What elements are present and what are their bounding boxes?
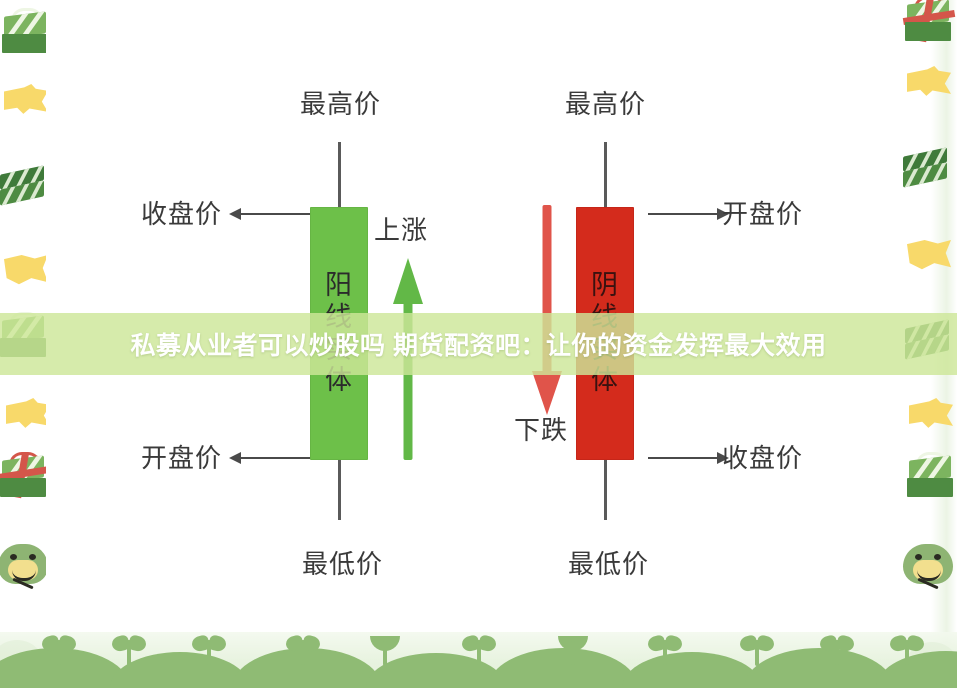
bearish-lower-wick [604,460,607,520]
uptrend-label: 上涨 [374,210,428,247]
sprout-icon [648,632,682,666]
page-title: 私募从业者可以炒股吗 期货配资吧：让你的资金发挥最大效用 [131,326,827,362]
downtrend-label: 下跌 [514,410,568,447]
bullish-close-label: 收盘价 [141,194,222,231]
bearish-open-label: 开盘价 [722,194,803,231]
downtrend-arrow-icon [532,205,562,415]
bullish-low-label: 最低价 [302,544,383,581]
bearish-high-label: 最高价 [565,84,646,121]
sprout-icon [42,632,76,666]
sprout-cup-icon [368,632,402,666]
bearish-close-arrow [648,457,718,459]
sprout-icon [890,632,924,666]
sprout-icon [820,632,854,666]
bullish-close-arrow [240,213,310,215]
bearish-open-arrow [648,213,718,215]
page-root: 最高价 阳 线 实 体 收盘价 开盘价 最低价 上涨 最高价 阴 线 [0,0,957,688]
bottom-grass-border [0,614,957,688]
bearish-body-char-1: 阴 [591,270,619,302]
bearish-upper-wick [604,142,607,208]
bearish-close-label: 收盘价 [722,438,803,475]
sprout-icon [112,632,146,666]
sprout-icon [192,632,226,666]
sprout-icon [286,632,320,666]
sprout-icon [740,632,774,666]
title-overlay-band: 私募从业者可以炒股吗 期货配资吧：让你的资金发挥最大效用 [0,313,957,375]
bullish-open-label: 开盘价 [141,438,222,475]
bullish-high-label: 最高价 [300,84,381,121]
sprout-icon [462,632,496,666]
bearish-low-label: 最低价 [568,544,649,581]
sprout-cup-icon [556,632,590,666]
bullish-open-arrow [240,457,310,459]
bullish-upper-wick [338,142,341,208]
bullish-lower-wick [338,460,341,520]
bullish-body-char-1: 阳 [325,270,353,302]
